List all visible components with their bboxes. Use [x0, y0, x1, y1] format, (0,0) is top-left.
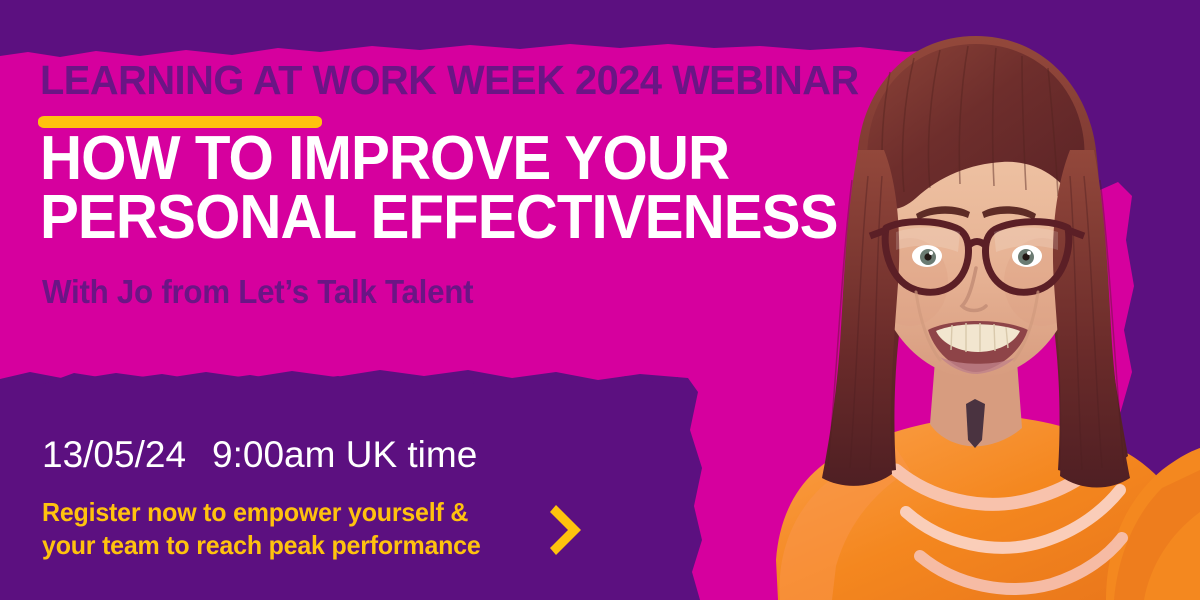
webinar-promo-banner: LEARNING AT WORK WEEK 2024 WEBINAR HOW T… — [0, 0, 1200, 600]
copy-stack: LEARNING AT WORK WEEK 2024 WEBINAR HOW T… — [0, 0, 860, 600]
headline-line-2: PERSONAL EFFECTIVENESS — [40, 189, 838, 248]
kicker-text: LEARNING AT WORK WEEK 2024 WEBINAR — [40, 60, 859, 101]
event-date: 13/05/24 — [42, 434, 186, 475]
cta-line-1: Register now to empower yourself & — [42, 497, 468, 527]
cta-line-2: your team to reach peak performance — [42, 529, 481, 562]
event-time: 9:00am UK time — [212, 434, 477, 475]
date-time-line: 13/05/249:00am UK time — [42, 436, 477, 473]
chevron-right-icon[interactable] — [548, 500, 594, 560]
register-cta-text[interactable]: Register now to empower yourself & your … — [42, 496, 481, 563]
presenter-name: With Jo from Let’s Talk Talent — [42, 275, 473, 308]
headline: HOW TO IMPROVE YOUR PERSONAL EFFECTIVENE… — [40, 130, 838, 248]
